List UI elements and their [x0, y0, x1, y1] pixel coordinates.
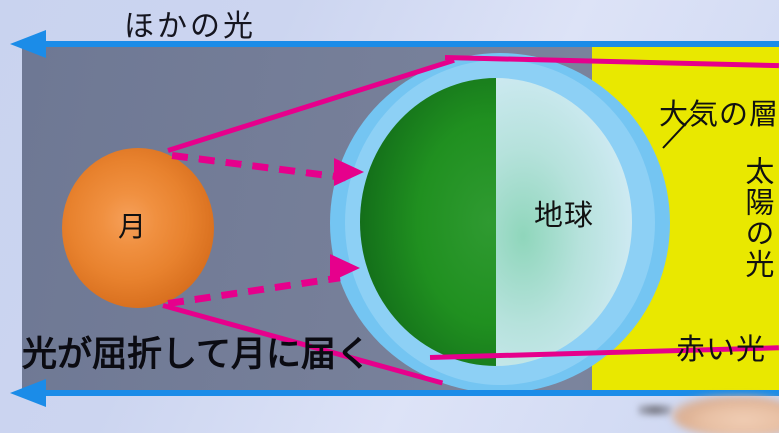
atmosphere-label: 大気の層	[659, 91, 779, 133]
earth-label: 地球	[534, 192, 594, 234]
straight-line-ray-upper-arrowhead	[334, 158, 364, 186]
pointer-stick	[638, 404, 672, 416]
slide-canvas: 地球 月 ほかの光 光が屈折して月に届く 大気の層 太陽の光 赤い光	[0, 0, 779, 433]
presenter-hand	[672, 396, 779, 433]
other-light-arrow-top-head	[10, 30, 46, 58]
other-light-arrow-bottom-head	[10, 379, 46, 407]
other-light-label: ほかの光	[124, 1, 256, 45]
moon-label: 月	[118, 205, 146, 245]
sunlight-label: 太陽の光	[742, 156, 772, 280]
straight-line-ray-lower-arrowhead	[330, 254, 360, 282]
refraction-caption: 光が屈折して月に届く	[22, 326, 371, 377]
earth-night-side	[360, 78, 496, 366]
other-light-arrow-bottom-line	[44, 390, 779, 396]
red-light-label: 赤い光	[676, 326, 766, 368]
